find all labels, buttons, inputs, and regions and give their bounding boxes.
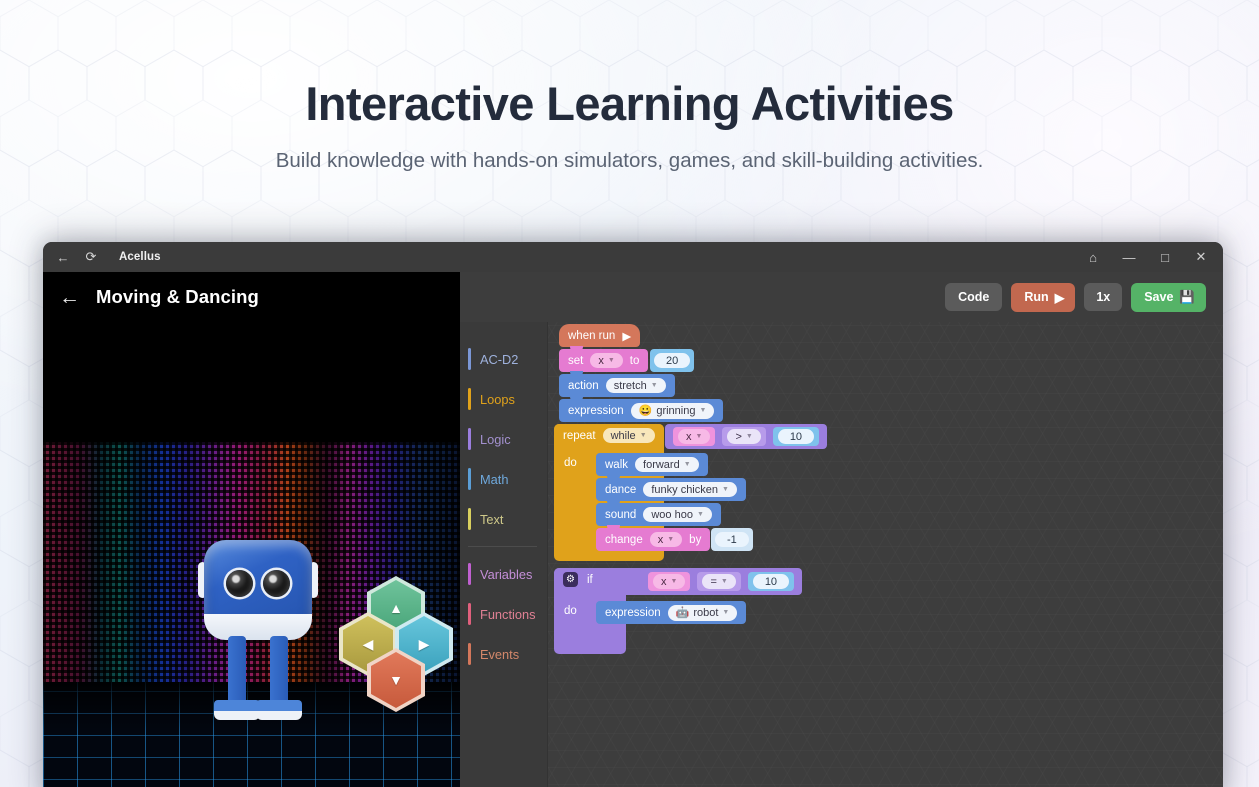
category-label: AC-D2: [480, 352, 518, 367]
direction-pad: ▲ ◀ ▶ ▼: [339, 576, 451, 714]
change-value-field[interactable]: -1: [715, 532, 749, 547]
page-subtitle: Build knowledge with hands-on simulators…: [0, 149, 1259, 173]
change-variable-dropdown[interactable]: x ▼: [650, 532, 682, 547]
condition-if-operator-slot[interactable]: = ▼: [697, 572, 740, 591]
simulator-back-icon[interactable]: ←: [59, 287, 80, 308]
robot-foot-left: [214, 700, 260, 720]
dance-dropdown[interactable]: funky chicken ▼: [643, 482, 737, 497]
block-repeat-label: repeat: [563, 430, 596, 442]
if-do-label: do: [564, 605, 577, 617]
category-label: Logic: [480, 432, 511, 447]
save-button[interactable]: Save 💾: [1131, 283, 1206, 312]
walk-value: forward: [643, 459, 680, 471]
robot-face-icon: 🤖: [676, 606, 690, 619]
code-button[interactable]: Code: [945, 283, 1002, 311]
condition-left-value[interactable]: x ▼: [678, 429, 710, 444]
sound-value: woo hoo: [651, 509, 693, 521]
condition-right-value[interactable]: 10: [778, 429, 814, 444]
category-color-bar: [468, 508, 471, 530]
minimize-icon[interactable]: —: [1111, 244, 1147, 270]
robot-simulator-panel: ← Moving & Dancing: [43, 272, 460, 787]
condition-left-text: x: [686, 431, 692, 443]
condition-operator-slot[interactable]: > ▼: [722, 427, 765, 446]
category-label: Text: [480, 512, 503, 527]
block-sound[interactable]: sound woo hoo ▼: [596, 503, 721, 526]
condition-if-left-value[interactable]: x ▼: [653, 574, 685, 589]
robot-eye-right: [263, 570, 290, 597]
arrow-down-icon: ▼: [389, 672, 403, 688]
block-change-variable[interactable]: change x ▼ by: [596, 528, 710, 551]
category-label: Variables: [480, 567, 532, 582]
category-color-bar: [468, 388, 471, 410]
repeat-mode-dropdown[interactable]: while ▼: [603, 428, 655, 443]
robot-leg-right: [270, 636, 288, 704]
chevron-down-icon: ▼: [722, 609, 729, 616]
robot-avatar: [198, 540, 318, 720]
category-item-logic[interactable]: Logic: [460, 419, 547, 459]
editor-toolbar: Code Run ▶ 1x Save 💾: [460, 272, 1223, 322]
maximize-icon[interactable]: □: [1147, 244, 1183, 270]
gear-icon[interactable]: ⚙: [563, 572, 578, 587]
chevron-down-icon: ▼: [667, 536, 674, 543]
block-expression-bottom-label: expression: [605, 607, 661, 619]
set-value-field[interactable]: 20: [654, 353, 690, 368]
category-color-bar: [468, 603, 471, 625]
activity-title: Moving & Dancing: [96, 286, 259, 308]
block-set-label: set: [568, 355, 583, 367]
block-if-row[interactable]: ⚙ if: [563, 572, 593, 587]
chevron-down-icon: ▼: [696, 433, 703, 440]
page-title: Interactive Learning Activities: [0, 76, 1259, 131]
block-change-label: change: [605, 534, 643, 546]
robot-head: [204, 540, 312, 640]
speed-button-label: 1x: [1096, 290, 1110, 304]
category-label: Loops: [480, 392, 515, 407]
save-button-label: Save: [1144, 290, 1173, 304]
expression-bottom-value: robot: [693, 607, 718, 619]
block-expression-label: expression: [568, 405, 624, 417]
condition-while[interactable]: x ▼ > ▼ 10: [665, 424, 827, 449]
chevron-down-icon: ▼: [746, 433, 753, 440]
browser-window: ← ⟳ Acellus ⌂ — □ ✕ ← Moving & Dancing: [43, 242, 1223, 787]
chevron-down-icon: ▼: [684, 461, 691, 468]
category-divider: [468, 546, 537, 547]
play-icon: ▶: [1055, 290, 1065, 305]
floppy-disk-icon: 💾: [1179, 290, 1195, 305]
code-button-label: Code: [958, 290, 989, 304]
category-list: AC-D2 Loops Logic Math: [460, 322, 548, 787]
category-color-bar: [468, 348, 471, 370]
category-item-variables[interactable]: Variables: [460, 554, 547, 594]
condition-if-left-text: x: [661, 576, 667, 588]
sound-dropdown[interactable]: woo hoo ▼: [643, 507, 712, 522]
block-editor-panel: Code Run ▶ 1x Save 💾: [460, 272, 1223, 787]
block-sound-label: sound: [605, 509, 636, 521]
simulator-header: ← Moving & Dancing: [43, 272, 460, 322]
run-button-label: Run: [1024, 290, 1048, 304]
condition-if-right-value[interactable]: 10: [753, 574, 789, 589]
browser-reload-icon[interactable]: ⟳: [77, 245, 105, 269]
window-body: ← Moving & Dancing: [43, 272, 1223, 787]
category-item-text[interactable]: Text: [460, 499, 547, 539]
condition-if-left-slot[interactable]: x ▼: [648, 572, 690, 591]
block-when-run[interactable]: when run ▶: [559, 324, 640, 347]
condition-left-slot[interactable]: x ▼: [673, 427, 715, 446]
block-if-label: if: [587, 574, 593, 586]
category-item-events[interactable]: Events: [460, 634, 547, 674]
expression-dropdown[interactable]: 😀 grinning ▼: [631, 403, 715, 419]
grinning-face-icon: 😀: [639, 404, 653, 417]
chevron-down-icon: ▼: [671, 578, 678, 585]
arrow-up-icon: ▲: [389, 600, 403, 616]
condition-if-right-slot[interactable]: 10: [748, 572, 794, 591]
block-walk-label: walk: [605, 459, 628, 471]
repeat-mode-value: while: [611, 430, 636, 442]
condition-operator-text: >: [735, 431, 741, 443]
block-action-label: action: [568, 380, 599, 392]
category-item-loops[interactable]: Loops: [460, 379, 547, 419]
arrow-left-icon: ◀: [363, 636, 374, 653]
change-variable-name: x: [658, 534, 664, 546]
category-label: Functions: [480, 607, 535, 622]
editor-main: AC-D2 Loops Logic Math: [460, 322, 1223, 787]
block-repeat-row[interactable]: repeat while ▼: [563, 428, 655, 443]
category-color-bar: [468, 563, 471, 585]
browser-title: Acellus: [119, 251, 161, 263]
chevron-down-icon: ▼: [722, 486, 729, 493]
set-value-socket[interactable]: 20: [650, 349, 694, 372]
repeat-do-label: do: [564, 457, 577, 469]
chevron-down-icon: ▼: [697, 511, 704, 518]
block-set-to-label: to: [630, 355, 640, 367]
block-dance[interactable]: dance funky chicken ▼: [596, 478, 746, 501]
condition-if-operator[interactable]: = ▼: [702, 574, 735, 589]
block-set-variable[interactable]: set x ▼ to: [559, 349, 648, 372]
arrow-right-icon: ▶: [419, 636, 430, 653]
variable-name: x: [598, 355, 604, 367]
block-change-by-label: by: [689, 534, 701, 546]
robot-foot-right: [256, 700, 302, 720]
category-item-math[interactable]: Math: [460, 459, 547, 499]
chevron-down-icon: ▼: [640, 432, 647, 439]
browser-back-icon[interactable]: ←: [49, 245, 77, 269]
dance-value: funky chicken: [651, 484, 718, 496]
condition-right-slot[interactable]: 10: [773, 427, 819, 446]
action-value: stretch: [614, 380, 647, 392]
category-item-ac-d2[interactable]: AC-D2: [460, 339, 547, 379]
block-expression-top[interactable]: expression 😀 grinning ▼: [559, 399, 723, 422]
category-color-bar: [468, 643, 471, 665]
expression-value: grinning: [656, 405, 695, 417]
play-icon: ▶: [622, 329, 631, 343]
block-when-run-label: when run: [568, 330, 615, 342]
home-icon[interactable]: ⌂: [1075, 244, 1111, 270]
condition-if[interactable]: x ▼ = ▼ 10: [640, 568, 802, 595]
robot-eye-left: [226, 570, 253, 597]
speed-button[interactable]: 1x: [1084, 283, 1122, 311]
window-controls: ⌂ — □ ✕: [1075, 244, 1219, 270]
robot-mouth: [248, 614, 272, 623]
category-label: Math: [480, 472, 508, 487]
chevron-down-icon: ▼: [721, 578, 728, 585]
condition-operator[interactable]: > ▼: [727, 429, 760, 444]
hero-section: Interactive Learning Activities Build kn…: [0, 0, 1259, 173]
chevron-down-icon: ▼: [608, 357, 615, 364]
block-walk[interactable]: walk forward ▼: [596, 453, 708, 476]
close-icon[interactable]: ✕: [1183, 244, 1219, 270]
robot-leg-left: [228, 636, 246, 704]
chevron-down-icon: ▼: [651, 382, 658, 389]
browser-chrome-bar: ← ⟳ Acellus ⌂ — □ ✕: [43, 242, 1223, 272]
category-item-functions[interactable]: Functions: [460, 594, 547, 634]
expression-bottom-dropdown[interactable]: 🤖 robot ▼: [668, 605, 738, 621]
block-expression-bottom[interactable]: expression 🤖 robot ▼: [596, 601, 746, 624]
change-value-socket[interactable]: -1: [711, 528, 753, 551]
category-label: Events: [480, 647, 519, 662]
run-button[interactable]: Run ▶: [1011, 283, 1075, 312]
block-workspace-canvas[interactable]: when run ▶ set x ▼ to 20: [548, 322, 1223, 787]
chevron-down-icon: ▼: [699, 407, 706, 414]
category-color-bar: [468, 428, 471, 450]
condition-if-operator-text: =: [710, 576, 716, 588]
category-color-bar: [468, 468, 471, 490]
block-action[interactable]: action stretch ▼: [559, 374, 675, 397]
block-dance-label: dance: [605, 484, 636, 496]
variable-dropdown[interactable]: x ▼: [590, 353, 622, 368]
action-dropdown[interactable]: stretch ▼: [606, 378, 666, 393]
walk-dropdown[interactable]: forward ▼: [635, 457, 699, 472]
